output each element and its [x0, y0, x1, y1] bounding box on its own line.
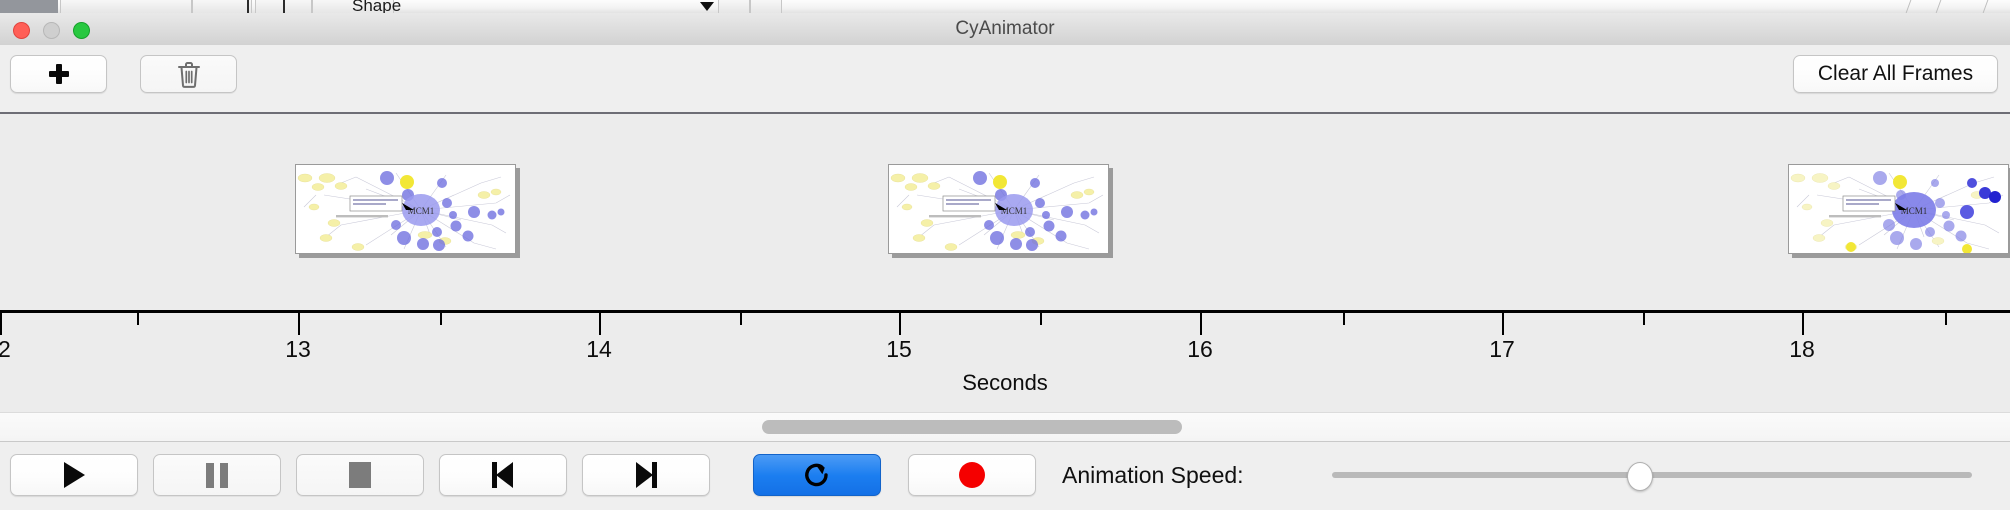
loop-icon — [803, 461, 831, 489]
add-frame-button[interactable] — [10, 55, 107, 93]
axis-major-tick — [1802, 313, 1804, 335]
record-button[interactable] — [908, 454, 1036, 496]
timeline-axis: 12 13 14 15 16 17 18 Seconds — [0, 310, 2010, 400]
axis-minor-tick — [1040, 313, 1042, 325]
background-window-chip — [718, 0, 750, 13]
background-window-tick — [247, 0, 249, 13]
pause-icon — [206, 463, 228, 488]
background-window-divider — [1906, 0, 1912, 13]
background-window-divider — [1936, 0, 1942, 13]
axis-major-tick — [1502, 313, 1504, 335]
axis-minor-tick — [1945, 313, 1947, 325]
skip-forward-icon — [633, 462, 659, 488]
stop-icon — [349, 462, 371, 488]
background-window-chip — [60, 0, 192, 13]
network-thumbnail-a: MCM1 — [889, 165, 1108, 253]
playback-toolbar: Animation Speed: — [0, 441, 2010, 510]
stop-button[interactable] — [296, 454, 424, 496]
scrollbar-thumb[interactable] — [762, 420, 1182, 434]
network-thumbnail-a: MCM1 — [296, 165, 515, 253]
svg-text:MCM1: MCM1 — [1001, 206, 1028, 216]
slider-thumb[interactable] — [1627, 462, 1653, 491]
background-window-strip: Shape — [0, 0, 2010, 14]
axis-title: Seconds — [0, 370, 2010, 396]
axis-minor-tick — [740, 313, 742, 325]
axis-major-tick — [298, 313, 300, 335]
loop-button[interactable] — [753, 454, 881, 496]
axis-tick-label: 16 — [1187, 336, 1213, 363]
clear-all-frames-label: Clear All Frames — [1818, 62, 1973, 86]
axis-major-tick — [599, 313, 601, 335]
title-bar: CyAnimator — [0, 13, 2010, 46]
axis-minor-tick — [1643, 313, 1645, 325]
axis-major-tick — [1200, 313, 1202, 335]
frame-thumbnail[interactable]: MCM1 — [1788, 164, 2009, 254]
window-title: CyAnimator — [0, 13, 2010, 45]
frames-toolbar: Clear All Frames — [0, 45, 2010, 114]
plus-icon — [49, 64, 69, 84]
skip-back-icon — [490, 462, 516, 488]
frame-thumbnail[interactable]: MCM1 — [295, 164, 516, 254]
background-window-arrow-icon — [700, 2, 714, 11]
record-icon — [959, 462, 985, 488]
delete-frame-button[interactable] — [140, 55, 237, 93]
axis-major-tick — [899, 313, 901, 335]
network-thumbnail-b: MCM1 — [1789, 165, 2008, 253]
background-window-chip — [750, 0, 782, 13]
animation-speed-label: Animation Speed: — [1062, 454, 1244, 496]
svg-text:MCM1: MCM1 — [408, 206, 435, 216]
next-frame-button[interactable] — [582, 454, 710, 496]
play-button[interactable] — [10, 454, 138, 496]
axis-line — [0, 310, 2010, 313]
axis-minor-tick — [137, 313, 139, 325]
axis-tick-label: 17 — [1489, 336, 1515, 363]
pause-button[interactable] — [153, 454, 281, 496]
frame-thumbnail[interactable]: MCM1 — [888, 164, 1109, 254]
background-window-chip — [192, 0, 252, 13]
axis-major-tick — [0, 313, 2, 335]
axis-tick-label: 15 — [886, 336, 912, 363]
play-icon — [64, 462, 85, 488]
background-window-dark-chip — [0, 0, 58, 13]
axis-minor-tick — [440, 313, 442, 325]
cyanimator-window: Shape CyAnimator Clear All Frames — [0, 0, 2010, 510]
timeline-scrollbar[interactable] — [0, 412, 2010, 442]
background-window-label: Shape — [352, 0, 401, 12]
trash-icon — [177, 61, 201, 88]
axis-tick-label: 14 — [586, 336, 612, 363]
frames-timeline-area[interactable]: MCM1 — [0, 114, 2010, 314]
axis-tick-label: 12 — [0, 336, 11, 363]
clear-all-frames-button[interactable]: Clear All Frames — [1793, 55, 1998, 93]
background-window-tick — [283, 0, 285, 13]
axis-minor-tick — [1343, 313, 1345, 325]
background-window-divider — [1983, 0, 1989, 13]
animation-speed-slider[interactable] — [1332, 454, 1972, 496]
svg-text:MCM1: MCM1 — [1901, 206, 1928, 216]
axis-tick-label: 13 — [285, 336, 311, 363]
previous-frame-button[interactable] — [439, 454, 567, 496]
axis-tick-label: 18 — [1789, 336, 1815, 363]
